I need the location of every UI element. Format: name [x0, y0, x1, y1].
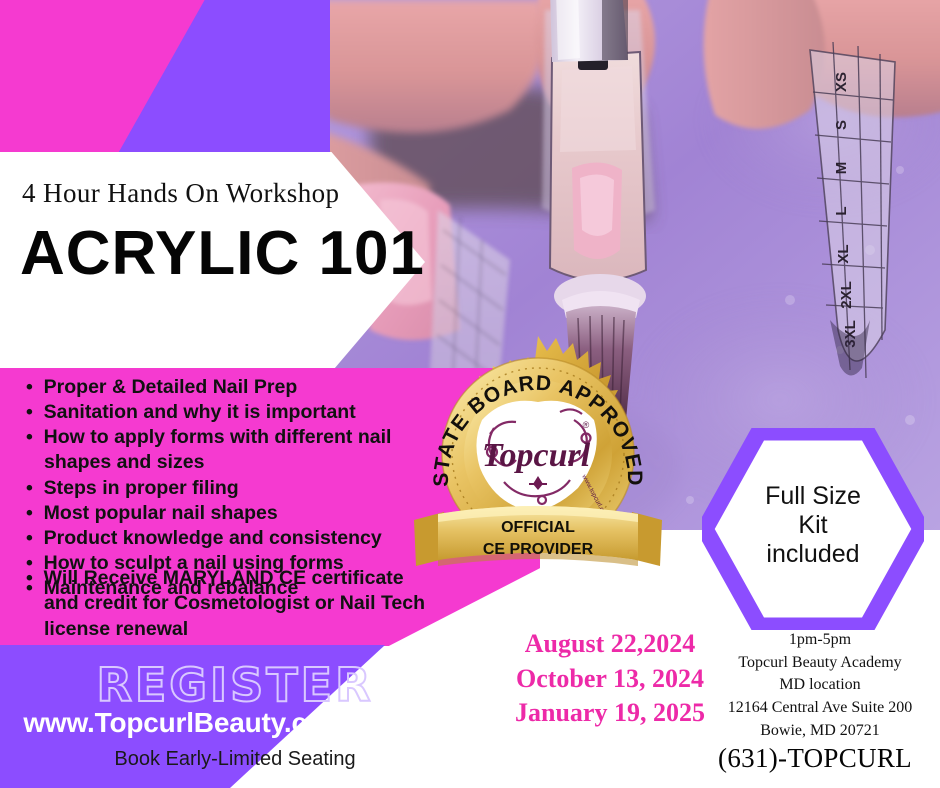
registration-url[interactable]: www.TopcurlBeauty.com/Events: [0, 707, 470, 739]
list-item: Proper & Detailed Nail Prep: [26, 375, 408, 400]
svg-text:XS: XS: [833, 72, 850, 92]
event-date: August 22,2024: [500, 627, 720, 662]
event-date: January 19, 2025: [500, 696, 720, 731]
full-size-kit-badge-text: Full Size Kit included: [702, 482, 924, 569]
state-board-approved-seal: Topcurl ® www.topcurl.com STATE BOARD AP…: [404, 332, 672, 594]
register-heading: REGISTER: [0, 658, 470, 712]
svg-text:Topcurl: Topcurl: [482, 437, 591, 474]
venue-details: 1pm-5pm Topcurl Beauty Academy MD locati…: [700, 629, 940, 743]
contact-phone[interactable]: (631)-TOPCURL: [690, 743, 940, 774]
full-size-kit-badge: Full Size Kit included: [702, 428, 924, 630]
badge-line-3: included: [702, 540, 924, 569]
venue-street: 12164 Central Ave Suite 200: [700, 697, 940, 720]
list-item: Sanitation and why it is important: [26, 400, 408, 425]
svg-text:L: L: [833, 206, 850, 215]
seal-ribbon-line1: OFFICIAL: [501, 519, 575, 536]
ce-credit-note: Will Receive MARYLAND CE certificate and…: [8, 566, 428, 642]
seal-ribbon-line2: CE PROVIDER: [483, 541, 594, 558]
event-dates: August 22,2024 October 13, 2024 January …: [500, 627, 720, 731]
workshop-kicker: 4 Hour Hands On Workshop: [22, 178, 339, 209]
ce-credit-note-text: Will Receive MARYLAND CE certificate and…: [26, 566, 428, 642]
flyer-poster: XS S M L XL 2XL 3XL 4 Hour Hands On Work…: [0, 0, 940, 788]
list-item: Most popular nail shapes: [26, 501, 408, 526]
list-item: Steps in proper filing: [26, 476, 408, 501]
venue-name: Topcurl Beauty Academy: [700, 652, 940, 675]
venue-region: MD location: [700, 674, 940, 697]
list-item: How to apply forms with different nail s…: [26, 425, 408, 475]
book-early-note: Book Early-Limited Seating: [0, 748, 470, 771]
svg-text:M: M: [833, 162, 850, 175]
venue-city-state-zip: Bowie, MD 20721: [700, 720, 940, 743]
svg-text:2XL: 2XL: [838, 281, 855, 309]
page-title: ACRYLIC 101: [20, 218, 425, 289]
list-item: Product knowledge and consistency: [26, 526, 408, 551]
event-date: October 13, 2024: [500, 662, 720, 697]
svg-text:®: ®: [583, 420, 590, 430]
badge-line-1: Full Size: [702, 482, 924, 511]
badge-line-2: Kit: [702, 511, 924, 540]
venue-time: 1pm-5pm: [700, 629, 940, 652]
svg-text:XL: XL: [835, 244, 852, 263]
svg-text:S: S: [833, 120, 850, 130]
